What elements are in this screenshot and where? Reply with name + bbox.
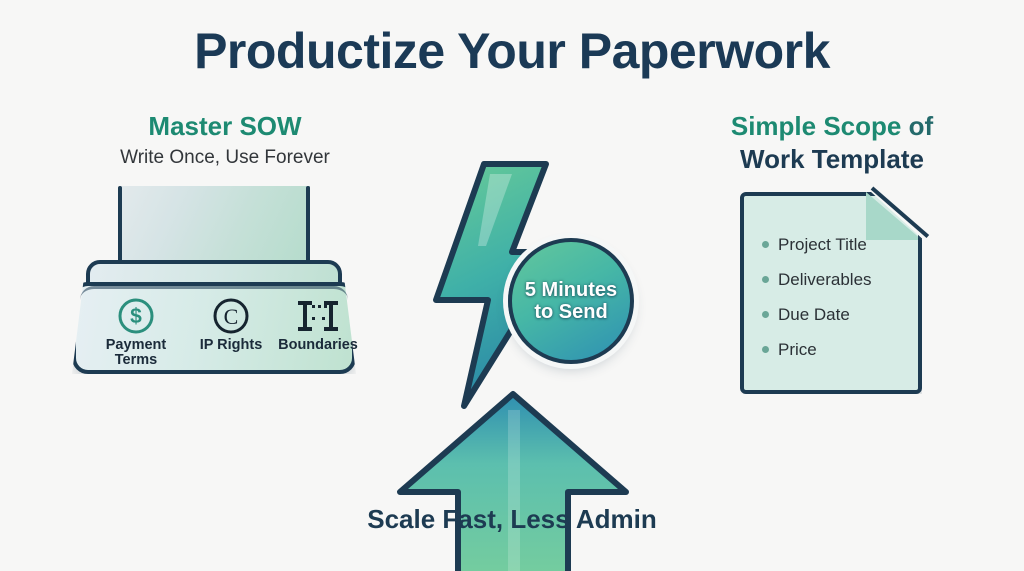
list-item-label: Due Date [778,306,850,323]
list-item-label: Price [778,341,817,358]
right-heading-line1: Simple Scope of [640,110,1024,143]
sow-feature-ip-label: IP Rights [183,338,279,353]
document-items-list: Project Title Deliverables Due Date Pric… [762,236,912,376]
sow-feature-payment-terms: $ Payment Terms [88,296,184,368]
svg-text:C: C [224,304,239,329]
sow-sheet-right-rail [306,186,310,270]
copyright-icon: C [183,296,279,336]
bullet-icon [762,276,769,283]
badge-line-2: to Send [525,301,617,323]
right-heading-line1-part1: Simple Scope [731,111,902,141]
bullet-icon [762,311,769,318]
five-minutes-badge: 5 Minutes to Send [508,238,634,364]
left-heading-group: Master SOW Write Once, Use Forever [30,112,420,169]
right-heading-line1-part2: of [901,111,933,141]
dollar-circle-icon: $ [88,296,184,336]
svg-text:$: $ [130,305,142,328]
right-heading-line2: Work Template [640,143,1024,176]
boundary-marker-icon [270,296,366,336]
list-item: Project Title [762,236,912,253]
sow-paper-sheet [120,186,310,268]
sow-feature-boundaries: Boundaries [270,296,366,353]
badge-line-1: 5 Minutes [525,279,617,301]
right-heading-group: Simple Scope of Work Template [640,110,1024,175]
sow-feature-ip-rights: C IP Rights [183,296,279,353]
page-title: Productize Your Paperwork [0,22,1024,80]
list-item: Due Date [762,306,912,323]
badge-text: 5 Minutes to Send [525,279,617,323]
arrow-caption: Scale Fast, Less Admin [262,504,762,535]
left-heading-subtitle: Write Once, Use Forever [30,147,420,170]
list-item-label: Project Title [778,236,867,253]
up-arrow-icon [388,388,638,571]
list-item-label: Deliverables [778,271,872,288]
bullet-icon [762,241,769,248]
left-heading-title: Master SOW [30,112,420,141]
infographic-canvas: Productize Your Paperwork Master SOW Wri… [0,0,1024,571]
sow-feature-payment-label: Payment Terms [88,338,184,368]
list-item: Deliverables [762,271,912,288]
list-item: Price [762,341,912,358]
sow-sheet-left-rail [118,186,122,270]
sow-feature-boundaries-label: Boundaries [270,338,366,353]
master-sow-graphic: $ Payment Terms C IP Rights [58,186,378,381]
bullet-icon [762,346,769,353]
document-page-icon: Project Title Deliverables Due Date Pric… [740,192,922,394]
